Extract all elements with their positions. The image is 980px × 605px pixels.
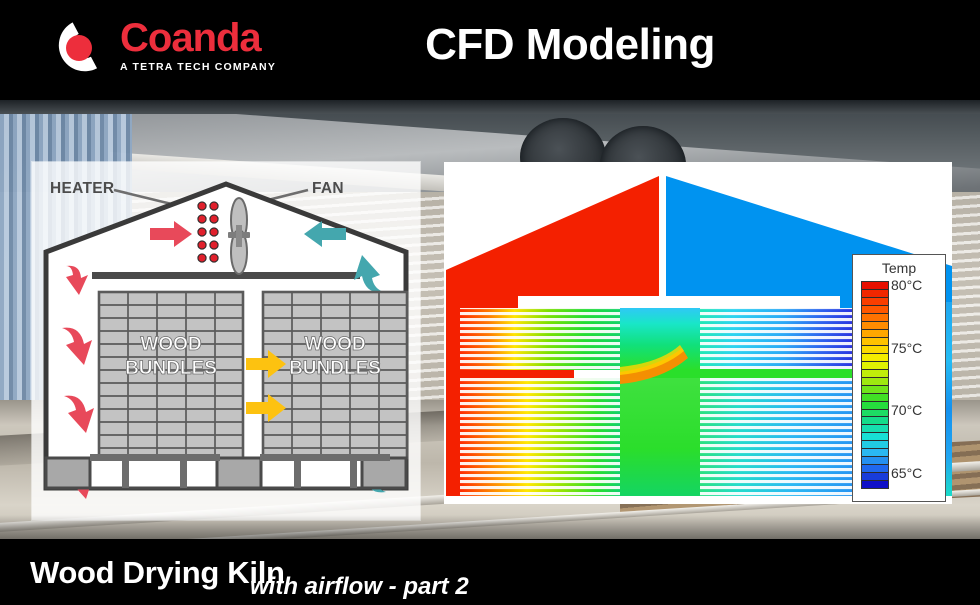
colorbar-band bbox=[862, 282, 888, 290]
colorbar-band bbox=[862, 417, 888, 425]
kiln-floor-pallets bbox=[46, 454, 406, 488]
colorbar-band bbox=[862, 322, 888, 330]
colorbar-band bbox=[862, 346, 888, 354]
cfd-boards-right-top bbox=[700, 308, 852, 370]
bundle-label-left-line2: BUNDLES bbox=[125, 358, 217, 379]
temperature-colorbar: Temp 80°C 75°C 70°C 65°C bbox=[852, 254, 946, 502]
colorbar-band bbox=[862, 425, 888, 433]
fan-icon bbox=[228, 198, 250, 274]
colorbar-band bbox=[862, 473, 888, 481]
footer-bar: Wood Drying Kiln with airflow - part 2 bbox=[0, 539, 980, 605]
colorbar-band bbox=[862, 290, 888, 298]
colorbar-band bbox=[862, 354, 888, 362]
slide-root: HEATER FAN bbox=[0, 0, 980, 605]
bundle-label-right-line1: WOOD bbox=[304, 334, 365, 355]
colorbar-band bbox=[862, 386, 888, 394]
cfd-ceiling-gap bbox=[518, 296, 840, 308]
colorbar-tick-70: 70°C bbox=[891, 402, 922, 418]
colorbar-band bbox=[862, 378, 888, 386]
ceiling-baffle bbox=[92, 272, 360, 279]
colorbar-band bbox=[862, 433, 888, 441]
colorbar-band bbox=[862, 449, 888, 457]
bundle-label-right-line2: BUNDLES bbox=[289, 358, 381, 379]
colorbar-band bbox=[862, 330, 888, 338]
colorbar-title: Temp bbox=[853, 260, 945, 276]
colorbar-band bbox=[862, 370, 888, 378]
colorbar-band bbox=[862, 402, 888, 410]
slide-title: Wood Drying Kiln bbox=[30, 555, 285, 591]
colorbar-band bbox=[862, 362, 888, 370]
kiln-schematic-svg: WOOD BUNDLES WOOD BUNDLES bbox=[32, 162, 420, 520]
colorbar-band bbox=[862, 314, 888, 322]
coanda-arc-logo-icon bbox=[42, 16, 110, 84]
photo-top-band bbox=[0, 100, 980, 114]
colorbar-strip bbox=[861, 281, 889, 489]
kiln-schematic-panel: HEATER FAN bbox=[32, 162, 420, 520]
colorbar-tick-75: 75°C bbox=[891, 340, 922, 356]
colorbar-band bbox=[862, 394, 888, 402]
cfd-field-center-bottom bbox=[620, 378, 700, 496]
bundle-label-left-line1: WOOD bbox=[140, 334, 201, 355]
colorbar-band bbox=[862, 306, 888, 314]
header-bar: Coanda A TETRA TECH COMPANY CFD Modeling bbox=[0, 0, 980, 100]
cfd-ridge-gap bbox=[659, 176, 666, 302]
colorbar-band bbox=[862, 457, 888, 465]
cfd-boards-left-top bbox=[460, 308, 620, 370]
colorbar-band bbox=[862, 338, 888, 346]
cfd-boards-left-bottom bbox=[460, 378, 620, 496]
cfd-hot-plenum-band bbox=[446, 369, 574, 378]
colorbar-tick-80: 80°C bbox=[891, 277, 922, 293]
slide-subtitle: with airflow - part 2 bbox=[250, 573, 469, 601]
colorbar-tick-65: 65°C bbox=[891, 465, 922, 481]
cfd-boards-right-bottom bbox=[700, 378, 852, 496]
colorbar-band bbox=[862, 441, 888, 449]
colorbar-band bbox=[862, 465, 888, 473]
colorbar-band bbox=[862, 410, 888, 418]
colorbar-band bbox=[862, 481, 888, 488]
cfd-result-panel: Temp 80°C 75°C 70°C 65°C bbox=[444, 162, 952, 504]
colorbar-band bbox=[862, 298, 888, 306]
page-title: CFD Modeling bbox=[160, 20, 980, 70]
